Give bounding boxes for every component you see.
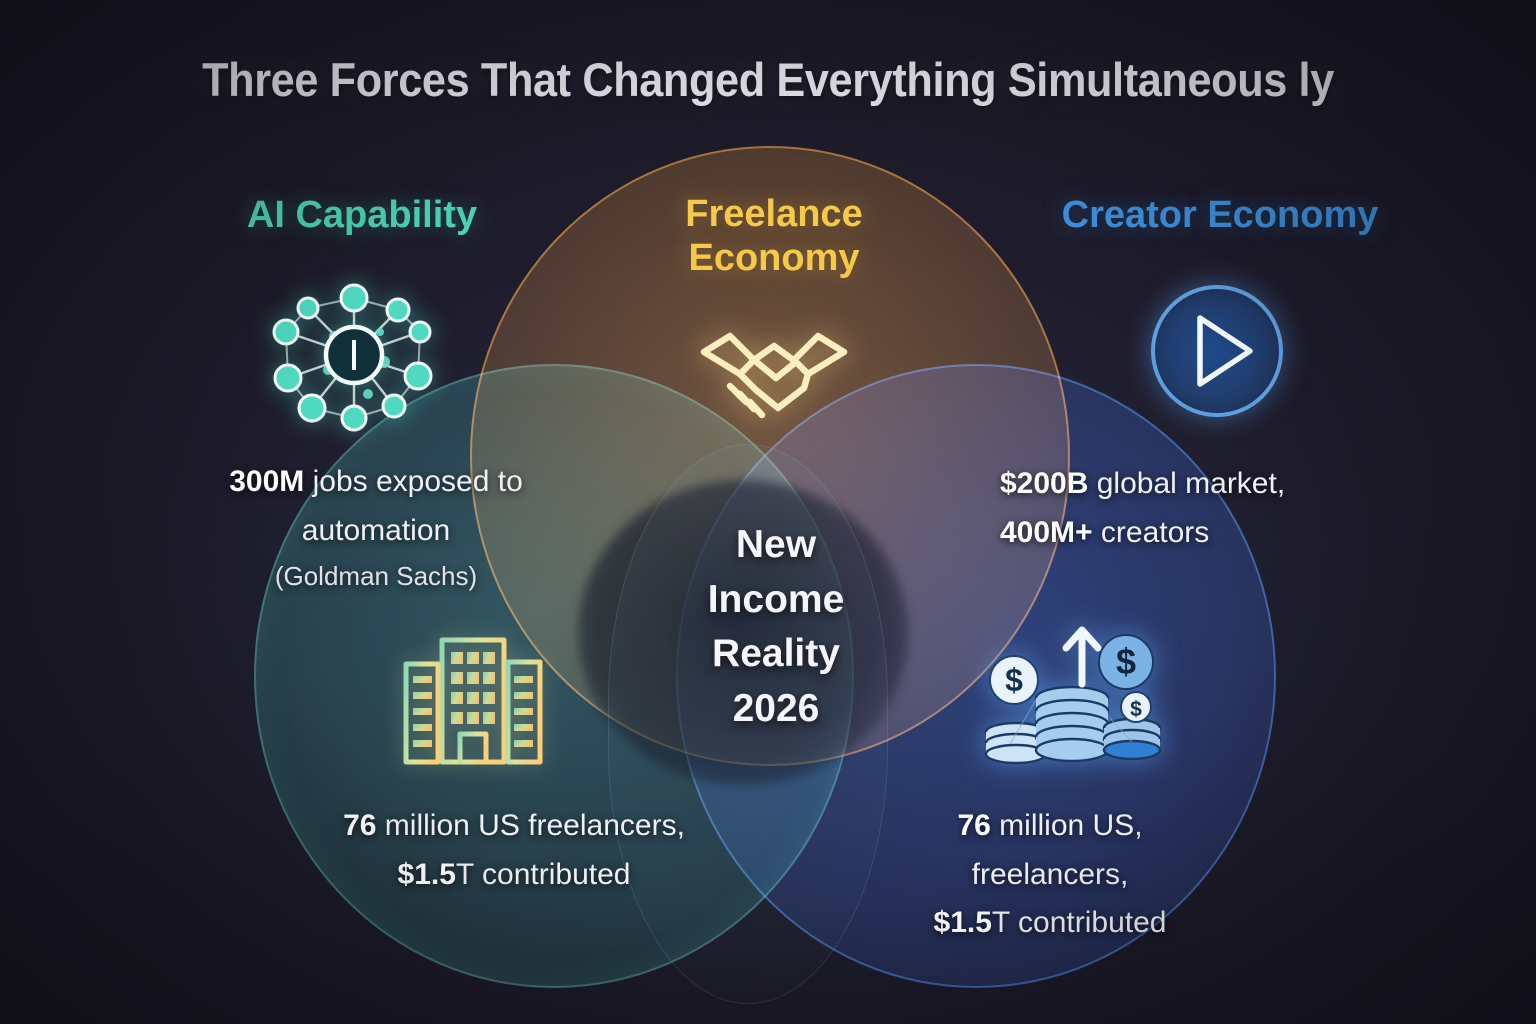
venn-label-ai-capability: AI Capability <box>212 194 512 237</box>
venn-center-line4: 2026 <box>660 682 892 737</box>
venn-label-creator-economy: Creator Economy <box>1030 194 1410 237</box>
stat-ai-contribution-text: T contributed <box>456 858 631 891</box>
ai-network-icon <box>262 266 446 444</box>
money-coins-icon: $ $ $ <box>984 622 1162 782</box>
stat-creator-market-line1: $200B global market, <box>1000 460 1424 509</box>
svg-text:$: $ <box>1116 641 1136 682</box>
stat-creator-freelancers-line2: freelancers, <box>880 851 1220 900</box>
stat-creator-contribution-text: T contributed <box>992 906 1167 939</box>
stat-creator-market: $200B global market, 400M+ creators <box>1000 460 1424 557</box>
venn-center-line3: Reality <box>660 627 892 682</box>
page-title: Three Forces That Changed Everything Sim… <box>61 52 1474 107</box>
stat-creator-market-line2: 400M+ creators <box>1000 509 1424 558</box>
svg-text:$: $ <box>1130 698 1142 721</box>
stat-ai-jobs-exposed: 300M jobs exposed to automation (Goldman… <box>190 458 562 597</box>
venn-label-freelance-economy: Freelance Economy <box>650 192 898 280</box>
stat-ai-contribution-amount: $1.5 <box>398 858 456 891</box>
venn-label-freelance-line2: Economy <box>650 236 898 280</box>
venn-center-line1: New <box>660 518 892 573</box>
stat-ai-jobs-source: (Goldman Sachs) <box>190 555 562 597</box>
stat-creator-freelancers-line3: $1.5T contributed <box>880 899 1220 948</box>
office-buildings-icon <box>394 632 554 776</box>
stat-creator-market-value: $200B <box>1000 467 1088 500</box>
venn-label-freelance-line1: Freelance <box>650 192 898 236</box>
stat-ai-freelancers-count: 76 <box>343 809 376 842</box>
stat-creator-freelancers-line1: 76 million US, <box>880 802 1220 851</box>
stat-creator-freelancers-text: million US, <box>991 809 1143 842</box>
stat-creator-freelancers: 76 million US, freelancers, $1.5T contri… <box>880 802 1220 948</box>
stat-creator-count-text: creators <box>1093 516 1210 549</box>
stat-ai-freelancers: 76 million US freelancers, $1.5T contrib… <box>340 802 688 899</box>
stat-creator-contribution-amount: $1.5 <box>934 906 992 939</box>
venn-center-label: New Income Reality 2026 <box>660 518 892 736</box>
stat-ai-freelancers-line2: $1.5T contributed <box>340 851 688 900</box>
play-button-icon <box>1146 280 1288 422</box>
svg-text:$: $ <box>1005 662 1023 698</box>
handshake-icon <box>692 316 856 428</box>
stat-ai-freelancers-line1: 76 million US freelancers, <box>340 802 688 851</box>
stat-ai-jobs-line: 300M jobs exposed to automation <box>190 458 562 555</box>
stat-ai-jobs-rest: jobs exposed to automation <box>302 465 523 547</box>
stat-creator-freelancers-count: 76 <box>957 809 990 842</box>
infographic-canvas: Three Forces That Changed Everything Sim… <box>0 0 1536 1024</box>
venn-center-line2: Income <box>660 573 892 628</box>
stat-creator-count: 400M+ <box>1000 516 1093 549</box>
stat-creator-market-text: global market, <box>1088 467 1285 500</box>
stat-ai-jobs-highlight: 300M <box>229 465 304 498</box>
stat-ai-freelancers-text: million US freelancers, <box>376 809 684 842</box>
